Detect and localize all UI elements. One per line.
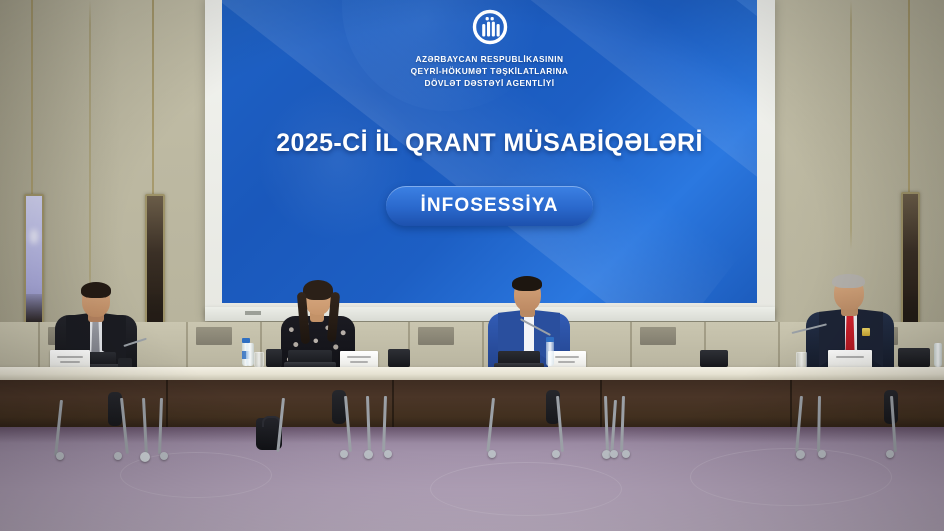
backwall-vent: [196, 327, 232, 345]
name-card-line: [555, 356, 579, 358]
table-panel-seam: [790, 380, 792, 429]
name-card: [50, 350, 90, 368]
chair-caster: [488, 450, 496, 458]
desk-device: [266, 349, 282, 367]
panelist-1-hair: [81, 282, 111, 298]
chair-caster: [364, 450, 373, 459]
backwall-divider: [186, 322, 188, 368]
wall-light-niche: [24, 194, 44, 324]
chair-caster: [160, 452, 168, 460]
niche-rod: [31, 0, 33, 195]
water-bottle: [934, 343, 942, 367]
slide-pill-label: İNFOSESSİYA: [386, 186, 592, 226]
name-card-line: [60, 361, 80, 363]
name-card-line: [347, 356, 371, 358]
slide-pill-wrap: İNFOSESSİYA: [222, 186, 757, 226]
name-card: [828, 350, 872, 368]
niche-rod: [908, 0, 910, 193]
name-card-line: [836, 356, 864, 358]
backwall-vent: [418, 327, 454, 345]
projection-screen: AZƏRBAYCAN RESPUBLİKASININ QEYRİ-HÖKUMƏT…: [222, 0, 757, 303]
name-card-line: [57, 356, 83, 358]
agency-name-block: AZƏRBAYCAN RESPUBLİKASININ QEYRİ-HÖKUMƏT…: [411, 53, 569, 89]
backwall-divider: [38, 322, 40, 368]
backwall-divider: [482, 322, 484, 368]
chair-caster: [886, 450, 894, 458]
chair-caster: [56, 452, 64, 460]
agency-line-2: QEYRİ-HÖKUMƏT TƏŞKİLATLARINA: [411, 65, 569, 77]
chair-caster: [610, 450, 618, 458]
niche-reflection: [903, 294, 918, 322]
backwall-divider: [778, 322, 780, 368]
bottle-cap: [546, 337, 554, 342]
carpet-pattern: [430, 462, 622, 516]
drinking-glass: [254, 352, 264, 368]
niche-glow: [30, 229, 39, 244]
chair-caster: [114, 452, 122, 460]
wall-dark-niche: [145, 194, 165, 324]
niche-rod: [152, 0, 154, 195]
chair-caster: [140, 452, 150, 462]
slide-title: 2025-Cİ İL QRANT MÜSABİQƏLƏRİ: [222, 129, 757, 158]
table-panel-seam: [166, 380, 168, 429]
table-floor-shadow: [0, 427, 944, 443]
conference-photo-scene: AZƏRBAYCAN RESPUBLİKASININ QEYRİ-HÖKUMƏT…: [0, 0, 944, 531]
agency-emblem-icon: [471, 6, 509, 46]
name-card-line: [350, 361, 368, 363]
name-card-line: [558, 361, 575, 363]
panelist-4-lapel-pin: [862, 328, 870, 336]
niche-reflection: [26, 294, 42, 322]
chair-caster: [552, 450, 560, 458]
wall-dark-niche: [901, 192, 920, 324]
agency-line-3: DÖVLƏT DƏSTƏYİ AGENTLİYİ: [411, 77, 569, 89]
conference-table-top: [0, 367, 944, 380]
desk-device: [898, 348, 930, 367]
chair-caster: [622, 450, 630, 458]
niche-reflection: [147, 294, 163, 322]
projection-screen-label: [245, 311, 261, 315]
water-bottle: [246, 343, 254, 366]
desk-device: [388, 349, 410, 367]
water-bottle: [546, 341, 554, 366]
wall-seam: [89, 0, 91, 300]
agency-line-1: AZƏRBAYCAN RESPUBLİKASININ: [411, 53, 569, 65]
name-card: [340, 351, 378, 368]
chair-caster: [384, 450, 392, 458]
slide-header: AZƏRBAYCAN RESPUBLİKASININ QEYRİ-HÖKUMƏT…: [222, 6, 757, 89]
desk-device: [700, 350, 728, 367]
table-panel-seam: [600, 380, 602, 429]
panelist-3-hair: [512, 276, 542, 291]
chair-caster: [796, 450, 805, 459]
panelist-4-hair: [832, 274, 865, 288]
panelist-2-hair: [303, 280, 333, 300]
backwall-divider: [630, 322, 632, 368]
wall-seam: [850, 0, 852, 250]
backwall-vent: [640, 327, 676, 345]
chair-caster: [818, 450, 826, 458]
chair-caster: [340, 450, 348, 458]
carpet-pattern: [690, 448, 892, 506]
table-panel-seam: [392, 380, 394, 429]
